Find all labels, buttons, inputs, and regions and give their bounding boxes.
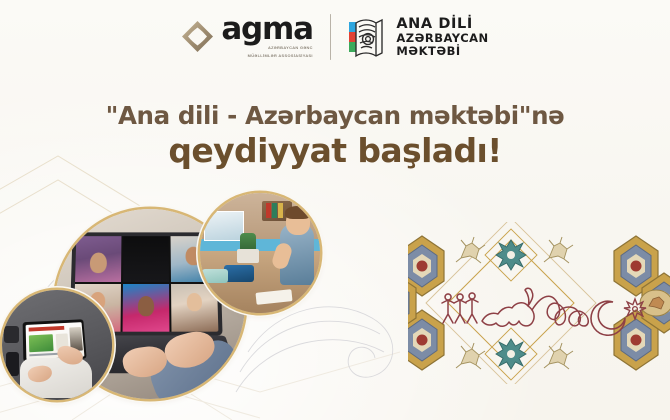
blue-case — [224, 265, 254, 282]
promo-banner: agma AZƏRBAYCAN GƏNC MÜƏLLİMLƏR ASSOSİAS… — [0, 0, 670, 420]
calligraphic-line — [532, 296, 588, 326]
agma-logo[interactable]: agma AZƏRBAYCAN GƏNC MÜƏLLİMLƏR ASSOSİAS… — [181, 15, 313, 60]
boy-hair — [285, 206, 311, 219]
deer-line-drawing — [482, 288, 534, 326]
crescent-moon-icon — [591, 301, 625, 335]
book — [278, 203, 283, 218]
agma-subtitle-line1: AZƏRBAYCAN GƏNC — [221, 45, 313, 51]
headline-line-1: "Ana dili - Azərbaycan məktəbi"nə — [0, 103, 670, 130]
book — [272, 203, 277, 218]
photo-caption-2: Child using a tablet with stylus at a gr… — [0, 0, 1, 1]
agma-diamond-mark — [181, 20, 214, 53]
photo-cluster — [0, 185, 340, 420]
photo-tablet-lesson — [2, 290, 112, 400]
logo-divider — [330, 14, 332, 60]
photo-caption-3: Boy sitting at a desk in front of a comp… — [0, 0, 1, 1]
logo-header: agma AZƏRBAYCAN GƏNC MÜƏLLİMLƏR ASSOSİAS… — [0, 14, 670, 60]
headline-line-2: qeydiyyat başladı! — [0, 133, 670, 170]
agma-wordmark: agma — [221, 15, 313, 44]
book — [266, 203, 271, 218]
ana-dili-line3: MƏKTƏBİ — [396, 45, 488, 58]
phone-on-desk — [6, 352, 19, 376]
monitor-stand — [237, 249, 259, 263]
photo-boy-at-computer — [200, 193, 320, 313]
petroglyph-figures — [442, 293, 478, 323]
ornament-svg — [408, 222, 670, 384]
video-tile — [123, 236, 169, 282]
ana-dili-line1: ANA DİLİ — [396, 16, 488, 32]
open-book-flag-icon — [348, 15, 388, 60]
agma-subtitle-line2: MÜƏLLİMLƏR ASSOSİASİYASI — [221, 53, 313, 59]
teal-books — [202, 269, 228, 283]
ana-dili-logo[interactable]: ANA DİLİ AZƏRBAYCAN MƏKTƏBİ — [348, 15, 488, 60]
video-tile — [75, 236, 122, 282]
azerbaijani-carpet-ornament — [408, 222, 670, 384]
window — [204, 211, 244, 241]
video-tile — [122, 284, 169, 332]
cup-on-desk — [4, 326, 19, 343]
photo-caption-1: Laptop video call grid with six children… — [0, 0, 1, 1]
headline-block: "Ana dili - Azərbaycan məktəbi"nə qeydiy… — [0, 103, 670, 170]
